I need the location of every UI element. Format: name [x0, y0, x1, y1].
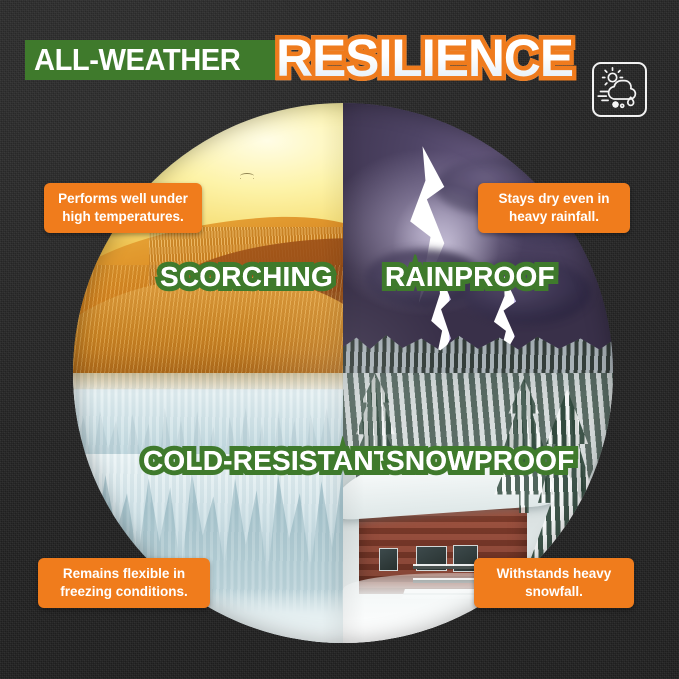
callout-cold-resistant: Remains flexible in freezing conditions.	[38, 558, 210, 608]
callout-scorching: Performs well under high temperatures.	[44, 183, 202, 233]
title-cold-resistant: COLD-RESISTANT	[143, 446, 391, 476]
callout-rainproof: Stays dry even in heavy rainfall.	[478, 183, 630, 233]
header: ALL-WEATHER RESILIENCE RESILIENCE	[0, 27, 679, 89]
title-snowproof: SNOWPROOF	[386, 446, 574, 476]
title-scorching: SCORCHING	[160, 262, 333, 292]
title-rainproof: RAINPROOF	[385, 262, 555, 292]
desert-scene	[73, 103, 343, 373]
storm-scene	[343, 103, 613, 373]
quadrant-scorching-image	[73, 103, 343, 373]
header-title-all-weather: ALL-WEATHER	[34, 43, 260, 77]
bird-icon	[240, 173, 254, 179]
callout-snowproof: Withstands heavy snowfall.	[474, 558, 634, 608]
cabin-window	[379, 548, 398, 571]
quadrant-rainproof-image	[343, 103, 613, 373]
all-weather-resilience-poster: ALL-WEATHER RESILIENCE RESILIENCE	[0, 0, 679, 679]
header-title-resilience: RESILIENCE	[276, 29, 573, 89]
treeline	[343, 330, 613, 373]
